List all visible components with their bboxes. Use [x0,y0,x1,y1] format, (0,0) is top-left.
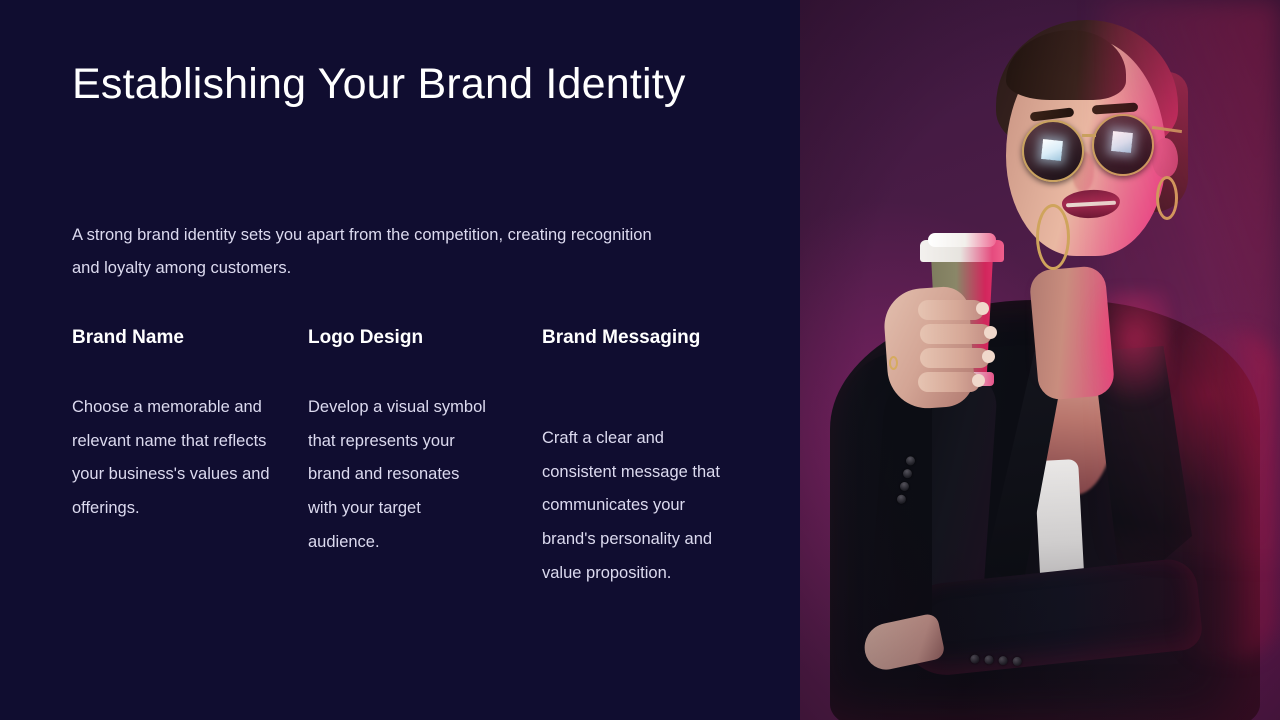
feature-heading: Logo Design [308,327,493,350]
feature-heading: Brand Name [72,327,272,350]
neck [1028,265,1115,401]
feature-column-brand-messaging: Brand Messaging Craft a clear and consis… [542,327,742,591]
lens-reflection-right [1111,131,1133,153]
page-title: Establishing Your Brand Identity [72,60,762,109]
feature-body: Develop a visual symbol that represents … [308,391,493,560]
fingernail [972,374,985,387]
hoop-earring-left [1036,204,1070,270]
sunglasses-bridge [1082,134,1096,137]
shoulder-rim-glow [1171,330,1276,660]
fingernail [976,302,989,315]
finger [918,372,980,392]
lens-reflection-left [1041,139,1063,161]
slide-subtitle: A strong brand identity sets you apart f… [72,219,672,285]
ear [1152,138,1178,178]
model-figure [800,0,1280,720]
feature-body: Craft a clear and consistent message tha… [542,422,742,591]
coffee-cup-lid-top [928,233,996,247]
slide: Establishing Your Brand Identity A stron… [0,0,1280,720]
feature-body: Choose a memorable and relevant name tha… [72,391,272,526]
finger [920,348,990,368]
feature-columns: Brand Name Choose a memorable and releva… [72,327,772,657]
fingernail [984,326,997,339]
content-panel: Establishing Your Brand Identity A stron… [0,0,800,720]
hair-front [1006,30,1126,100]
gold-ring [889,356,898,370]
feature-heading: Brand Messaging [542,327,742,350]
hoop-earring-right [1156,176,1178,220]
feature-column-logo-design: Logo Design Develop a visual symbol that… [308,327,493,560]
hero-photo [800,0,1280,720]
fingernail [982,350,995,363]
finger [918,300,984,320]
feature-column-brand-name: Brand Name Choose a memorable and releva… [72,327,272,526]
finger [920,324,992,344]
